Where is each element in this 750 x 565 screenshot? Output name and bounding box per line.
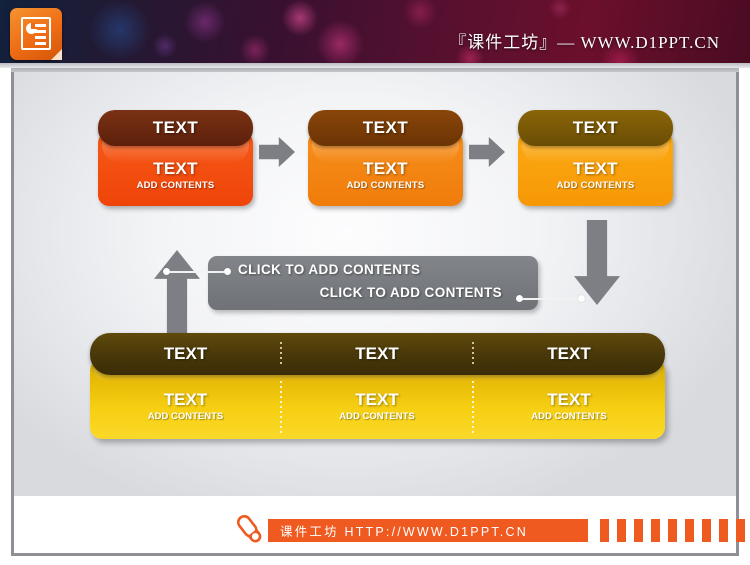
bottom-cell-2-subtitle: ADD CONTENTS: [339, 411, 414, 422]
arrow-bottom-to-callout-icon: [154, 250, 200, 335]
bottom-cell-1-subtitle: ADD CONTENTS: [148, 411, 223, 422]
process-step-2-subtitle: ADD CONTENTS: [347, 180, 425, 191]
footer-tick-6: [685, 519, 694, 542]
process-step-2-header-label: TEXT: [363, 118, 408, 138]
callout-line-1: CLICK TO ADD CONTENTS: [238, 262, 420, 277]
arrow-step2-to-step3-icon: [469, 137, 505, 167]
bottom-cell-3: TEXT ADD CONTENTS: [473, 373, 665, 439]
connector-dot-arrow-right: [578, 295, 585, 302]
footer-tick-3: [634, 519, 643, 542]
footer-tick-9: [736, 519, 745, 542]
footer-tick-1: [600, 519, 609, 542]
logo-line-4: [35, 42, 46, 45]
callout-box[interactable]: CLICK TO ADD CONTENTS CLICK TO ADD CONTE…: [208, 256, 538, 310]
bottom-cell-3-title: TEXT: [547, 390, 590, 410]
bottom-cell-3-header: TEXT: [473, 333, 665, 375]
process-step-2-title: TEXT: [363, 159, 408, 179]
slide-canvas: 『课件工坊』— WWW.D1PPT.CN TEXT TEXT ADD CONTE…: [0, 0, 750, 565]
process-step-1[interactable]: TEXT TEXT ADD CONTENTS: [98, 110, 253, 206]
powerpoint-document-icon: [10, 8, 62, 60]
process-step-3-header: TEXT: [518, 110, 673, 146]
footer-url-bar[interactable]: 课件工坊 HTTP://WWW.D1PPT.CN: [268, 519, 588, 542]
bottom-cell-2: TEXT ADD CONTENTS: [281, 373, 473, 439]
bottom-cell-3-subtitle: ADD CONTENTS: [531, 411, 606, 422]
process-step-3-subtitle: ADD CONTENTS: [557, 180, 635, 191]
bottom-header-divider-1: [280, 342, 282, 366]
bottom-cell-2-title: TEXT: [355, 390, 398, 410]
logo-line-3: [35, 36, 46, 39]
callout-line-2: CLICK TO ADD CONTENTS: [320, 285, 502, 300]
footer-tick-8: [719, 519, 728, 542]
logo-document-frame: [21, 17, 51, 50]
bottom-body-divider-1: [280, 381, 282, 433]
bottom-cell-1-title: TEXT: [164, 390, 207, 410]
bottom-cell-2-header-label: TEXT: [355, 344, 398, 364]
arrow-step3-to-bottom-icon: [574, 220, 620, 305]
header-banner: 『课件工坊』— WWW.D1PPT.CN: [0, 0, 750, 68]
bottom-cell-2-header: TEXT: [281, 333, 473, 375]
bottom-cell-1: TEXT ADD CONTENTS: [90, 373, 281, 439]
bottom-cell-3-header-label: TEXT: [547, 344, 590, 364]
connector-line-left: [168, 271, 228, 273]
logo-line-2: [35, 30, 46, 33]
pen-icon: [232, 512, 266, 548]
footer-tick-7: [702, 519, 711, 542]
connector-dot-callout-left: [224, 268, 231, 275]
bottom-cell-1-header: TEXT: [90, 333, 281, 375]
bottom-cell-1-header-label: TEXT: [164, 344, 207, 364]
connector-line-right: [520, 298, 582, 300]
logo-line-1: [35, 24, 46, 27]
footer-tick-5: [668, 519, 677, 542]
process-step-1-subtitle: ADD CONTENTS: [137, 180, 215, 191]
bottom-header-divider-2: [472, 342, 474, 366]
process-step-2[interactable]: TEXT TEXT ADD CONTENTS: [308, 110, 463, 206]
process-step-1-title: TEXT: [153, 159, 198, 179]
bottom-bar-header: TEXT TEXT TEXT: [90, 333, 665, 375]
connector-dot-arrow-left: [163, 268, 170, 275]
arrow-step1-to-step2-icon: [259, 137, 295, 167]
process-step-1-header-label: TEXT: [153, 118, 198, 138]
banner-title: 『课件工坊』— WWW.D1PPT.CN: [449, 28, 720, 53]
bottom-bar[interactable]: TEXT TEXT TEXT TEXT ADD CONTENTS TEXT AD…: [90, 333, 665, 439]
connector-dot-callout-right: [516, 295, 523, 302]
process-step-2-header: TEXT: [308, 110, 463, 146]
process-step-3-header-label: TEXT: [573, 118, 618, 138]
footer-url-text: 课件工坊 HTTP://WWW.D1PPT.CN: [268, 521, 528, 540]
footer-tick-4: [651, 519, 660, 542]
bottom-body-divider-2: [472, 381, 474, 433]
process-step-3[interactable]: TEXT TEXT ADD CONTENTS: [518, 110, 673, 206]
process-step-3-title: TEXT: [573, 159, 618, 179]
process-step-1-header: TEXT: [98, 110, 253, 146]
footer-tick-2: [617, 519, 626, 542]
